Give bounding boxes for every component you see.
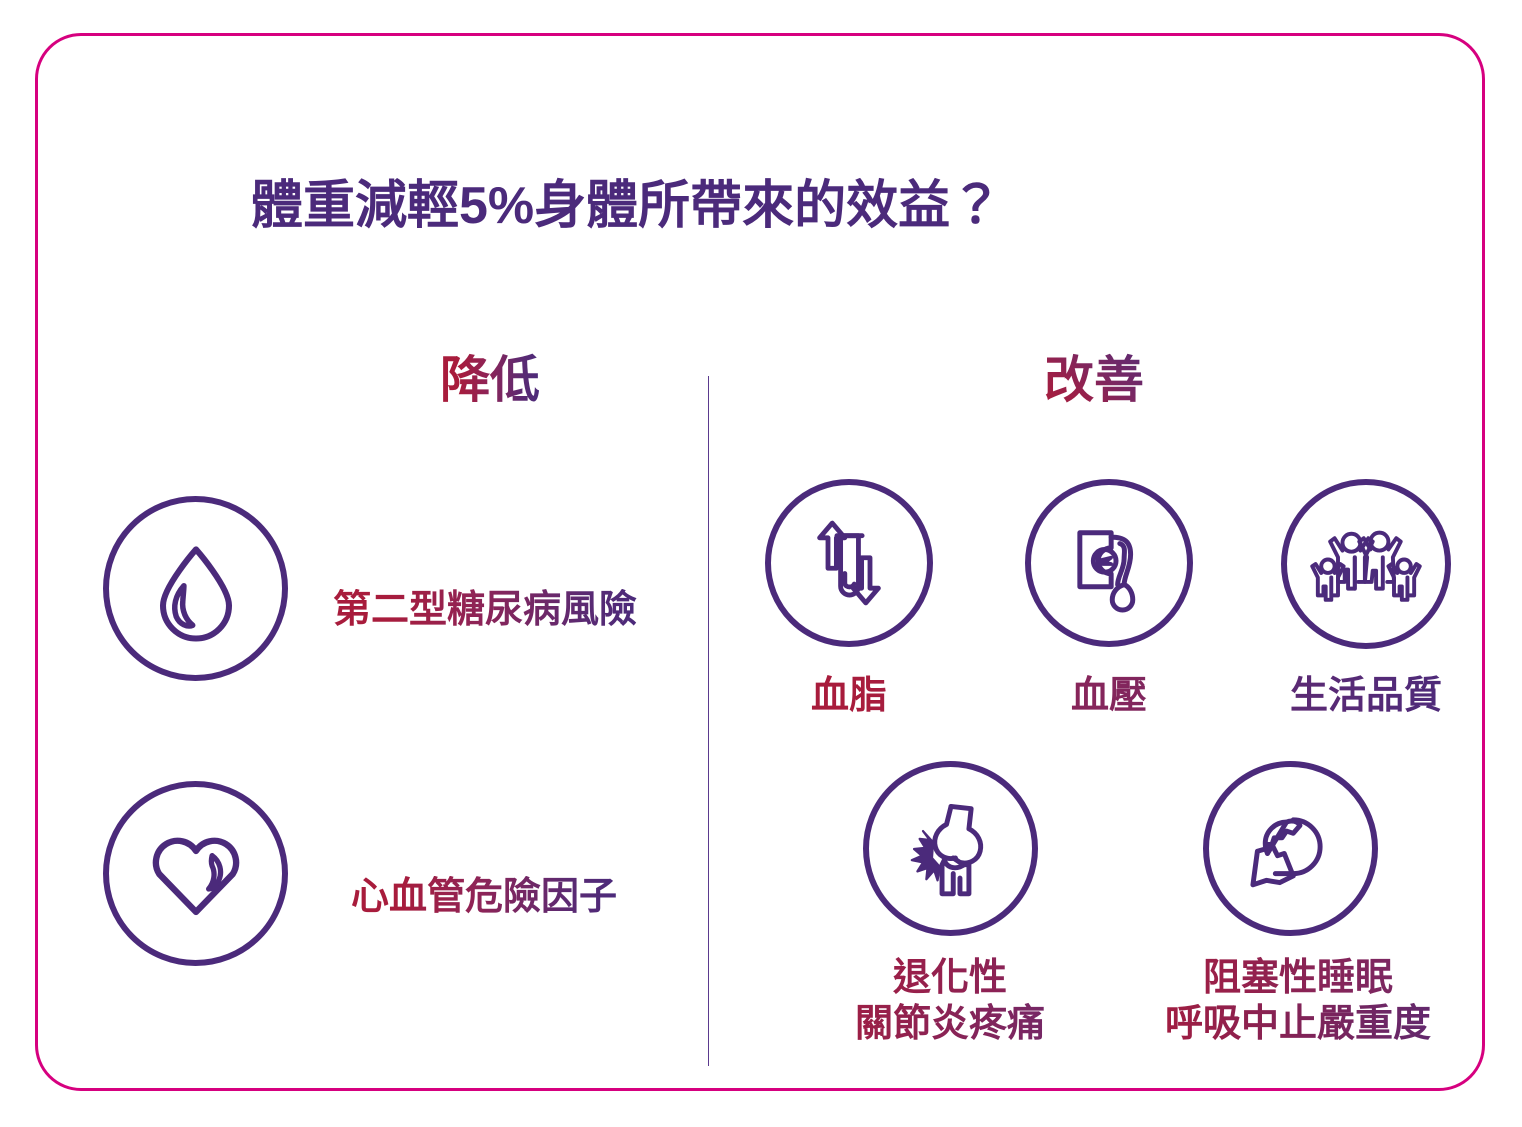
family-icon: [1281, 479, 1451, 649]
column-header-improve: 改善: [1044, 353, 1144, 408]
column-divider: [708, 376, 709, 1066]
reduce-item-label-diabetes: 第二型糖尿病風險: [333, 589, 637, 633]
blood-drop-icon: [103, 496, 288, 681]
heart-icon: [103, 781, 288, 966]
page-title: 體重減輕5%身體所帶來的效益？: [251, 178, 1002, 235]
reduce-item-label-cardiovascular: 心血管危險因子: [351, 876, 617, 920]
improve-item-label-lipids-text: 血脂: [749, 674, 949, 720]
test-tube-arrows-icon: [765, 479, 933, 647]
column-header-reduce: 降低: [440, 353, 540, 408]
improve-item-label-osteoarthritis: 退化性 關節炎疼痛: [800, 956, 1100, 1047]
improve-item-label-osteoarthritis-line2: 關節炎疼痛: [800, 1002, 1100, 1048]
improve-item-label-sleep-apnea-line2: 呼吸中止嚴重度: [1133, 1002, 1463, 1048]
reduce-item-label-cardiovascular-text: 心血管危險因子: [351, 876, 617, 920]
improve-item-label-blood-pressure: 血壓: [1009, 674, 1209, 720]
improve-item-label-lipids: 血脂: [749, 674, 949, 720]
reduce-item-label-diabetes-text: 第二型糖尿病風險: [333, 589, 637, 633]
knee-joint-pain-icon: [863, 761, 1038, 936]
improve-item-label-blood-pressure-text: 血壓: [1009, 674, 1209, 720]
improve-item-label-osteoarthritis-line1: 退化性: [800, 956, 1100, 1002]
sleeping-head-pillow-icon: [1203, 761, 1378, 936]
improve-item-label-quality-of-life: 生活品質: [1251, 674, 1481, 720]
column-header-improve-text: 改善: [1044, 353, 1144, 408]
improve-item-label-sleep-apnea-line1: 阻塞性睡眠: [1133, 956, 1463, 1002]
improve-item-label-quality-of-life-text: 生活品質: [1251, 674, 1481, 720]
blood-pressure-monitor-icon: [1025, 479, 1193, 647]
infographic-card: 體重減輕5%身體所帶來的效益？ 降低 改善 第二型糖尿病風險 心血管危險因子: [35, 33, 1485, 1091]
improve-item-label-sleep-apnea: 阻塞性睡眠 呼吸中止嚴重度: [1133, 956, 1463, 1047]
column-header-reduce-text: 降低: [440, 353, 540, 408]
